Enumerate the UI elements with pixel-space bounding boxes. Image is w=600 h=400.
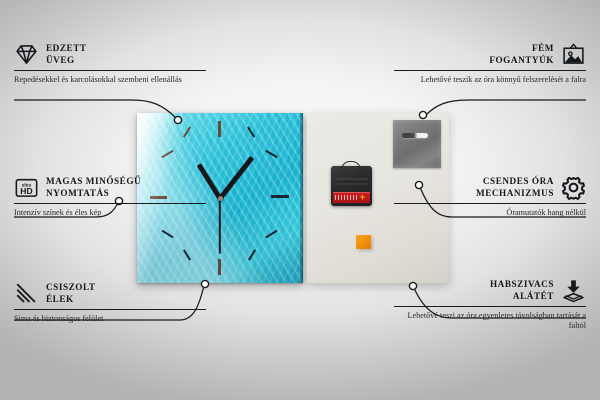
diamond-icon	[14, 42, 39, 67]
feature-polished-edges: CSISZOLTÉLEK Sima és biztonságos felület	[14, 281, 206, 324]
battery-plus-icon	[359, 194, 366, 201]
feature-description: Óramutatók hang nélkül	[394, 208, 586, 219]
clock-minute-hand	[218, 156, 254, 200]
clock-tick-10	[161, 150, 173, 158]
clock-second-hand	[219, 198, 221, 254]
feature-description: Lehetővé teszi az óra egyenletes távolsá…	[394, 311, 586, 332]
divider	[394, 306, 586, 307]
divider	[394, 70, 586, 71]
mechanism-ridge	[335, 178, 368, 180]
feature-header: HABSZIVACSALÁTÉT	[394, 278, 586, 303]
gear-icon	[561, 175, 586, 200]
feature-header: EDZETTÜVEG	[14, 42, 206, 67]
feature-title: CSISZOLTÉLEK	[46, 282, 96, 305]
feature-header: FÉMFOGANTYÚK	[394, 42, 586, 67]
clock-mechanism	[331, 166, 372, 206]
clock-tick-8	[161, 230, 173, 239]
clock-tick-11	[183, 126, 191, 137]
feature-header: CSISZOLTÉLEK	[14, 281, 206, 306]
battery-text	[335, 195, 359, 200]
feature-header: ultra HD MAGAS MINŐSÉGŰNYOMTATÁS	[14, 175, 206, 200]
feature-header: CSENDES ÓRAMECHANIZMUS	[394, 175, 586, 200]
divider	[14, 70, 206, 71]
metal-hanger-plate	[393, 120, 441, 168]
clock-tick-3	[271, 195, 289, 198]
feature-title: MAGAS MINŐSÉGŰNYOMTATÁS	[46, 176, 141, 199]
infographic-canvas: EDZETTÜVEG Repedésekkel és karcolásokkal…	[0, 0, 600, 400]
foam-pad	[356, 235, 371, 249]
clock-tick-1	[247, 126, 255, 137]
feature-description: Repedésekkel és karcolásokkal szembeni e…	[14, 75, 206, 86]
feature-title: HABSZIVACSALÁTÉT	[490, 279, 554, 302]
clock-tick-6	[218, 259, 221, 275]
mechanism-ridge	[335, 183, 368, 185]
clock-tick-7	[183, 249, 191, 260]
clock-tick-5	[248, 249, 256, 260]
feature-description: Intenzív színek és éles kép	[14, 208, 206, 219]
clock-tick-12	[218, 121, 221, 137]
clock-tick-4	[265, 230, 277, 239]
glass-edge	[300, 113, 303, 283]
feature-tempered-glass: EDZETTÜVEG Repedésekkel és karcolásokkal…	[14, 42, 206, 85]
divider	[14, 203, 206, 204]
feature-description: Sima és biztonságos felület	[14, 314, 206, 325]
divider	[394, 203, 586, 204]
clock-tick-2	[265, 150, 277, 158]
battery-label	[333, 192, 370, 203]
feature-foam-pad: HABSZIVACSALÁTÉT Lehetővé teszi az óra e…	[394, 278, 586, 332]
feature-title: FÉMFOGANTYÚK	[489, 43, 554, 66]
foam-pad-icon	[561, 278, 586, 303]
feature-high-quality-print: ultra HD MAGAS MINŐSÉGŰNYOMTATÁS Intenzí…	[14, 175, 206, 218]
feature-description: Lehetővé teszik az óra könnyű felszerelé…	[394, 75, 586, 86]
feature-title: CSENDES ÓRAMECHANIZMUS	[476, 176, 554, 199]
ultra-hd-icon: ultra HD	[14, 175, 39, 200]
mechanism-hanging-loop	[341, 161, 361, 170]
feature-silent-mechanism: CSENDES ÓRAMECHANIZMUS Óramutatók hang n…	[394, 175, 586, 218]
picture-hanger-icon	[561, 42, 586, 67]
clock-center-pin	[218, 196, 223, 201]
feature-metal-handles: FÉMFOGANTYÚK Lehetővé teszik az óra könn…	[394, 42, 586, 85]
hanger-slot	[402, 133, 428, 138]
svg-text:HD: HD	[20, 186, 32, 196]
polished-edges-icon	[14, 281, 39, 306]
feature-title: EDZETTÜVEG	[46, 43, 87, 66]
divider	[14, 309, 206, 310]
